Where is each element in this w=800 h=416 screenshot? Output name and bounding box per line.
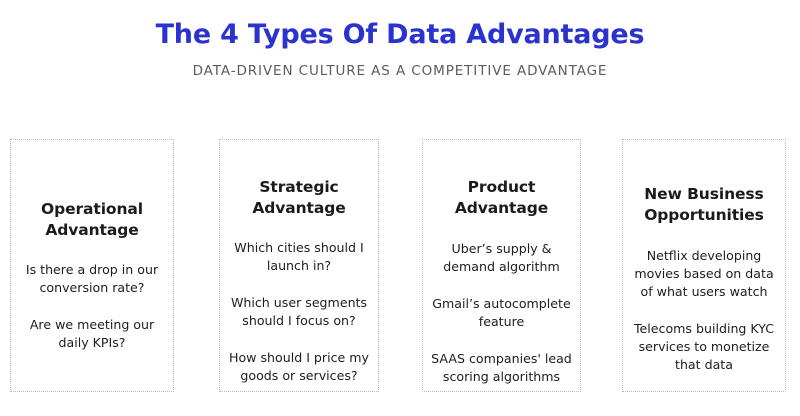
advantage-card: New Business Opportunities Netflix devel…	[622, 139, 786, 392]
card-heading-line: New Business	[644, 184, 764, 205]
card-list-item: Are we meeting our daily KPIs?	[17, 316, 167, 352]
card-list-item: Netflix developing movies based on data …	[629, 247, 779, 301]
card-list-item: How should I price my goods or services?	[226, 349, 372, 385]
card-item-list: Netflix developing movies based on data …	[629, 247, 779, 374]
card-list-item: SAAS companies' lead scoring algorithms	[429, 350, 574, 386]
card-list-item: Uber’s supply & demand algorithm	[429, 240, 574, 276]
card-list-item: Telecoms building KYC services to moneti…	[629, 320, 779, 374]
card-heading-line: Operational	[41, 199, 143, 220]
card-item-list: Which cities should I launch in? Which u…	[226, 239, 372, 385]
card-heading-line: Strategic	[252, 177, 345, 198]
card-item-list: Uber’s supply & demand algorithm Gmail’s…	[429, 240, 574, 386]
advantage-card: Product Advantage Uber’s supply & demand…	[422, 139, 581, 392]
card-heading: New Business Opportunities	[644, 184, 764, 226]
advantage-card: Operational Advantage Is there a drop in…	[10, 139, 174, 392]
card-list-item: Gmail’s autocomplete feature	[429, 295, 574, 331]
slide-header: The 4 Types Of Data Advantages DATA-DRIV…	[0, 18, 800, 80]
card-item-list: Is there a drop in our conversion rate? …	[17, 261, 167, 352]
card-heading: Operational Advantage	[41, 199, 143, 241]
card-list-item: Is there a drop in our conversion rate?	[17, 261, 167, 297]
card-heading-line: Advantage	[455, 198, 548, 219]
card-list-item: Which user segments should I focus on?	[226, 294, 372, 330]
slide-canvas: The 4 Types Of Data Advantages DATA-DRIV…	[0, 0, 800, 416]
card-heading-line: Product	[455, 177, 548, 198]
card-heading: Strategic Advantage	[252, 177, 345, 219]
card-heading-line: Advantage	[41, 220, 143, 241]
advantage-card-row: Operational Advantage Is there a drop in…	[10, 139, 786, 392]
card-heading-line: Advantage	[252, 198, 345, 219]
card-heading-line: Opportunities	[644, 205, 764, 226]
card-heading: Product Advantage	[455, 177, 548, 219]
page-subtitle: DATA-DRIVEN CULTURE AS A COMPETITIVE ADV…	[0, 63, 800, 80]
advantage-card: Strategic Advantage Which cities should …	[219, 139, 379, 392]
card-list-item: Which cities should I launch in?	[226, 239, 372, 275]
page-title: The 4 Types Of Data Advantages	[0, 18, 800, 52]
